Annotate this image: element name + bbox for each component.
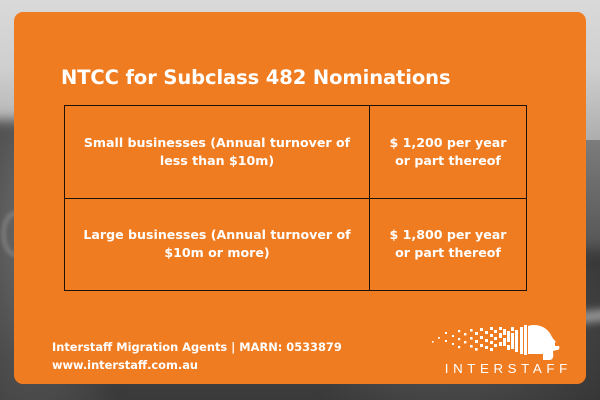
- page-title: NTCC for Subclass 482 Nominations: [61, 66, 450, 89]
- row-description: Small businesses (Annual turnover of les…: [65, 106, 370, 199]
- info-card: NTCC for Subclass 482 Nominations Small …: [14, 12, 586, 384]
- pixel-head-icon: [432, 320, 580, 360]
- rates-table: Small businesses (Annual turnover of les…: [64, 105, 527, 291]
- table-row: Small businesses (Annual turnover of les…: [65, 106, 527, 199]
- footer-contact: Interstaff Migration Agents | MARN: 0533…: [52, 338, 342, 375]
- row-amount: $ 1,800 per year or part thereof: [370, 198, 527, 291]
- row-amount: $ 1,200 per year or part thereof: [370, 106, 527, 199]
- footer-line-website[interactable]: www.interstaff.com.au: [52, 356, 342, 374]
- interstaff-logo: INTERSTAFF: [432, 320, 580, 382]
- table-row: Large businesses (Annual turnover of $10…: [65, 198, 527, 291]
- footer-line-agency: Interstaff Migration Agents | MARN: 0533…: [52, 338, 342, 356]
- row-description: Large businesses (Annual turnover of $10…: [65, 198, 370, 291]
- logo-wordmark: INTERSTAFF: [432, 361, 580, 376]
